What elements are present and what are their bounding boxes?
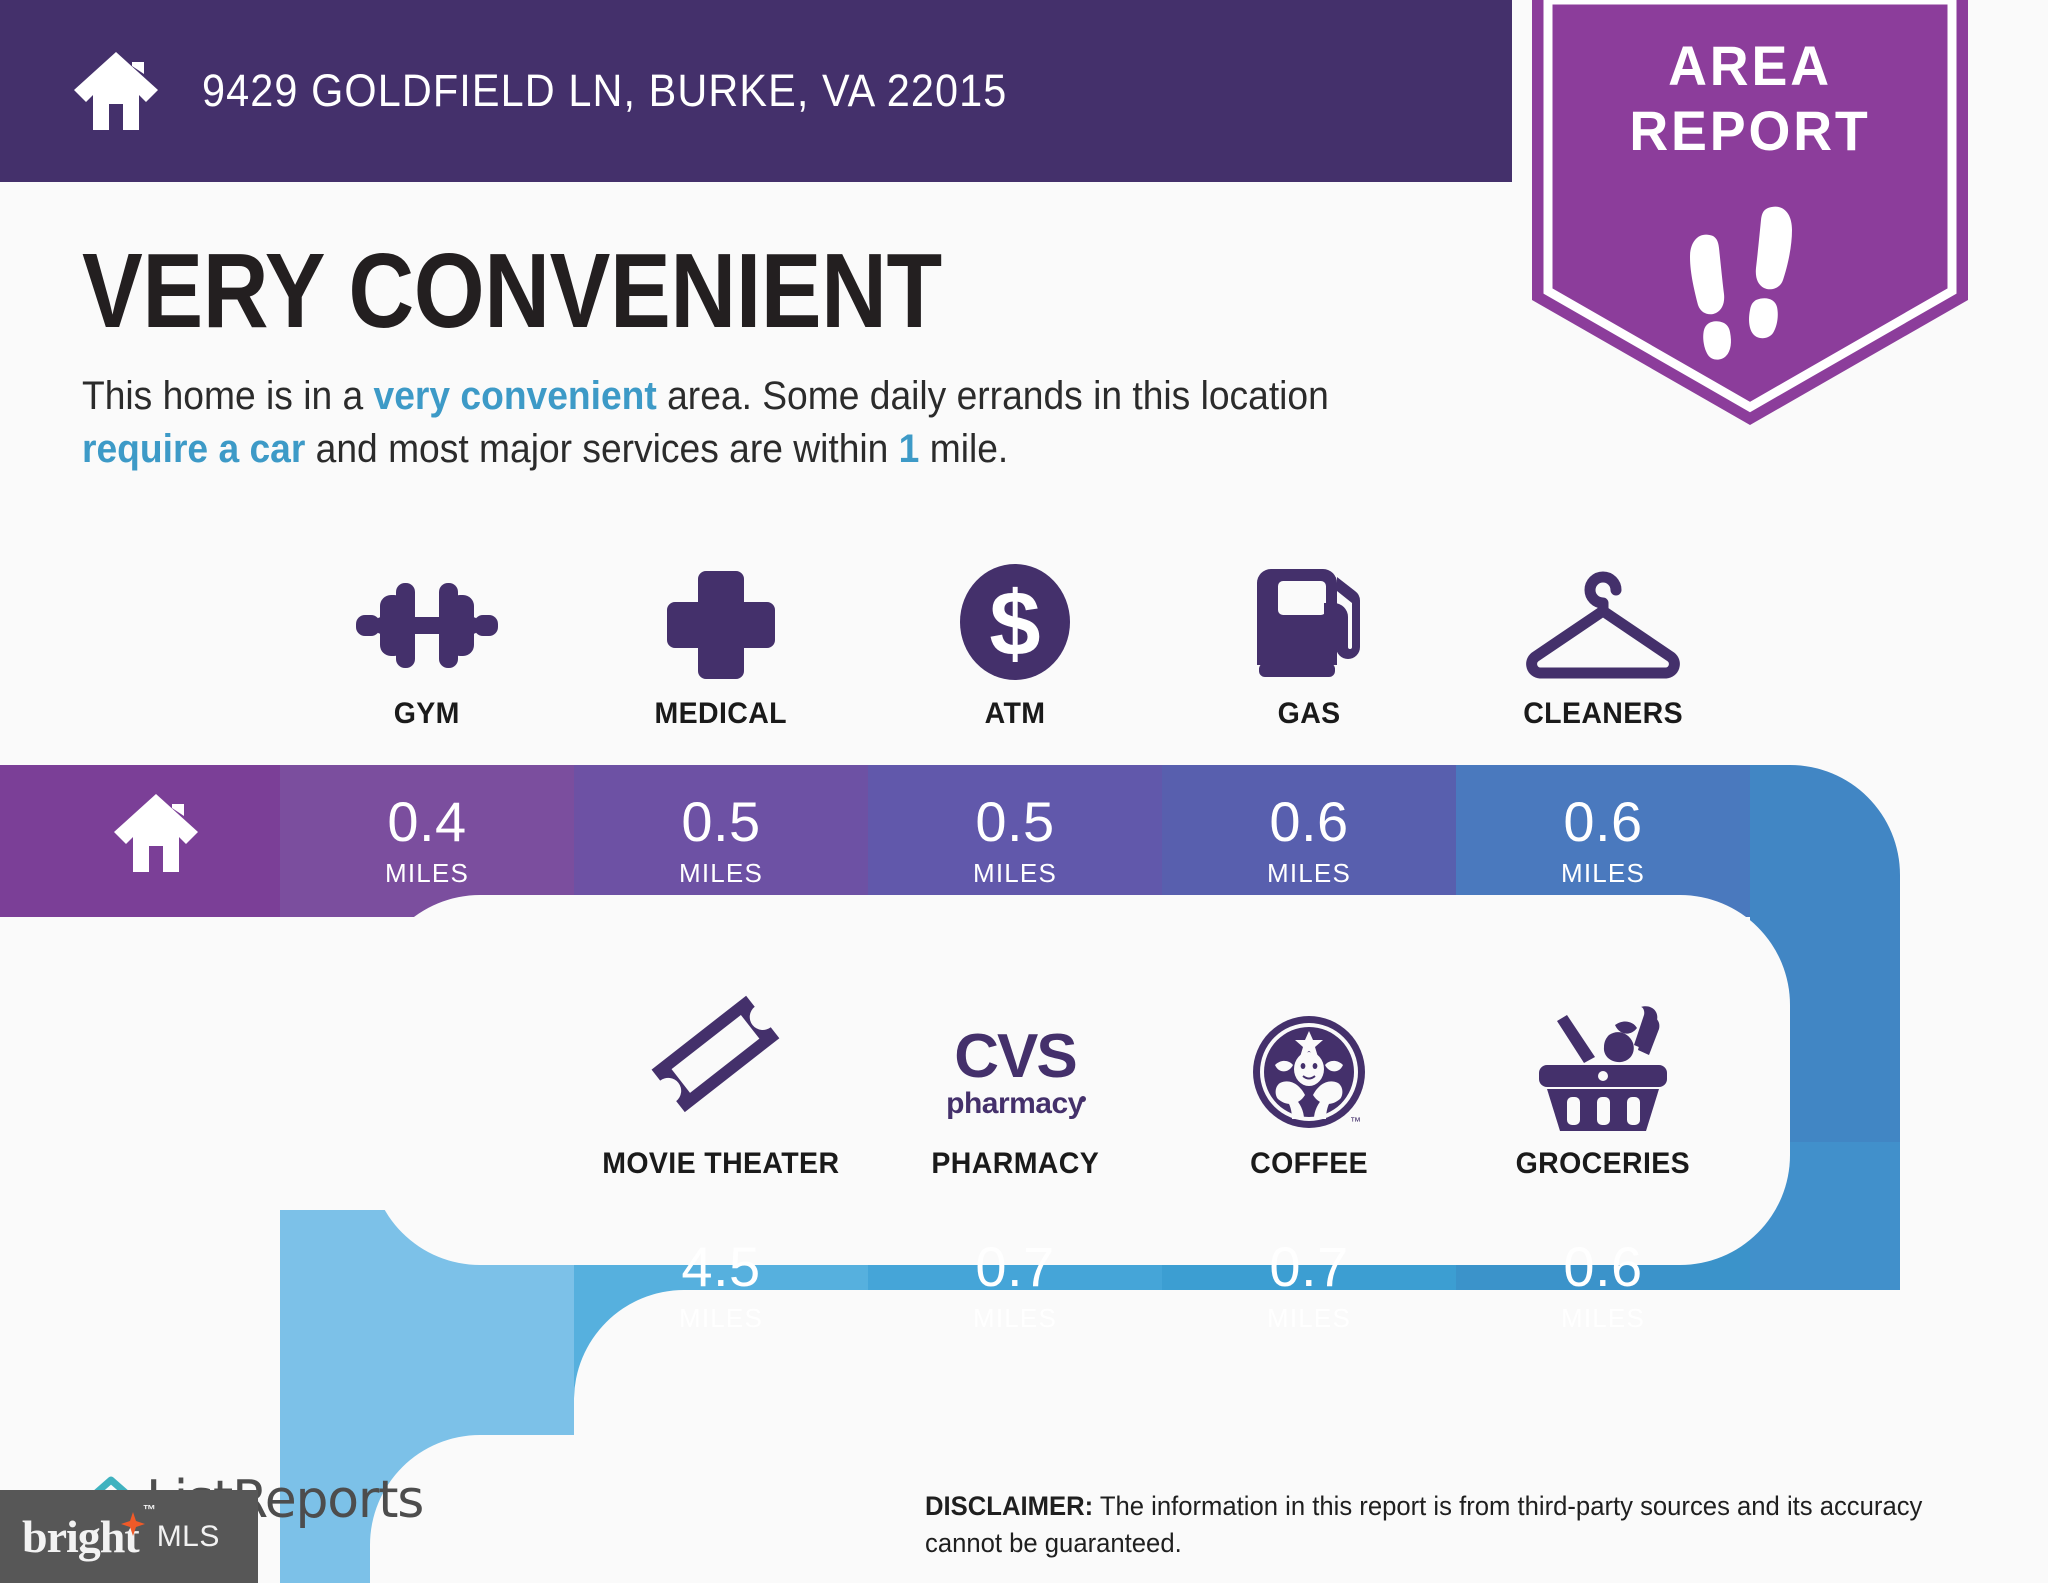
summary-highlight-3: 1 bbox=[899, 427, 920, 471]
cvs-pharmacy-logo: CVS pharmacy bbox=[931, 1019, 1099, 1131]
page-title: VERY CONVENIENT bbox=[82, 238, 942, 344]
summary-text-3: and most major services are within bbox=[305, 427, 898, 471]
icon-wrap bbox=[1247, 555, 1371, 681]
distance-value: 0.5 bbox=[681, 794, 760, 850]
summary-highlight-2: require a car bbox=[82, 427, 305, 471]
amenity-icon-row-1: GYM MEDICAL $ ATM bbox=[280, 555, 1750, 731]
icon-wrap bbox=[651, 1005, 791, 1131]
icon-wrap bbox=[352, 555, 502, 681]
amenity-gas[interactable]: GAS bbox=[1162, 555, 1456, 731]
distance-unit: MILES bbox=[679, 1303, 763, 1334]
trademark-symbol: ™ bbox=[143, 1502, 155, 1517]
amenity-medical[interactable]: MEDICAL bbox=[574, 555, 868, 731]
summary-description: This home is in a very convenient area. … bbox=[82, 370, 1384, 476]
icon-wrap bbox=[1523, 555, 1683, 681]
distance-cell-groceries[interactable]: 0.6 MILES bbox=[1456, 1210, 1750, 1362]
amenity-cleaners[interactable]: CLEANERS bbox=[1456, 555, 1750, 731]
amenity-atm[interactable]: $ ATM bbox=[868, 555, 1162, 731]
amenity-icon-row-2: MOVIE THEATER CVS pharmacy PHARMACY bbox=[574, 1005, 1750, 1181]
icon-wrap: CVS pharmacy bbox=[931, 1005, 1099, 1131]
icon-wrap bbox=[1537, 1005, 1669, 1131]
header-bar: 9429 GOLDFIELD LN, BURKE, VA 22015 bbox=[0, 0, 1512, 182]
summary-text-4: mile. bbox=[919, 427, 1008, 471]
amenity-label: MOVIE THEATER bbox=[602, 1147, 839, 1181]
svg-text:$: $ bbox=[989, 573, 1040, 675]
bright-mls-badge: bright ™ MLS bbox=[0, 1490, 258, 1583]
distance-value: 0.7 bbox=[1269, 1239, 1348, 1295]
bright-wordmark: bright ™ bbox=[22, 1510, 139, 1563]
ticket-icon bbox=[651, 991, 791, 1131]
property-address: 9429 GOLDFIELD LN, BURKE, VA 22015 bbox=[202, 65, 1007, 117]
distance-value: 0.6 bbox=[1563, 794, 1642, 850]
amenity-label: GROCERIES bbox=[1516, 1147, 1690, 1181]
starbucks-logo: ™ bbox=[1250, 1013, 1368, 1131]
distance-cell-movie-theater[interactable]: 4.5 MILES bbox=[574, 1210, 868, 1362]
area-report-page: 9429 GOLDFIELD LN, BURKE, VA 22015 AREA … bbox=[0, 0, 2048, 1583]
summary-text-2: area. Some daily errands in this locatio… bbox=[657, 374, 1329, 418]
area-report-badge: AREA REPORT bbox=[1500, 0, 2000, 425]
amenity-pharmacy[interactable]: CVS pharmacy PHARMACY bbox=[868, 1005, 1162, 1181]
distance-cell-gym[interactable]: 0.4 MILES bbox=[280, 765, 574, 917]
distance-unit: MILES bbox=[1267, 1303, 1351, 1334]
amenity-gym[interactable]: GYM bbox=[280, 555, 574, 731]
distance-unit: MILES bbox=[973, 1303, 1057, 1334]
badge-ribbon-shape bbox=[1500, 0, 2000, 425]
amenity-label: GYM bbox=[394, 697, 460, 731]
distance-unit: MILES bbox=[1561, 858, 1645, 889]
svg-text:pharmacy: pharmacy bbox=[946, 1087, 1085, 1120]
dollar-circle-icon: $ bbox=[959, 563, 1071, 681]
icon-wrap bbox=[665, 555, 777, 681]
icon-wrap: ™ bbox=[1250, 1005, 1368, 1131]
disclaimer: DISCLAIMER: The information in this repo… bbox=[925, 1488, 1961, 1563]
distance-value: 0.6 bbox=[1269, 794, 1348, 850]
distance-cell-medical[interactable]: 0.5 MILES bbox=[574, 765, 868, 917]
distance-value: 0.5 bbox=[975, 794, 1054, 850]
amenity-label: PHARMACY bbox=[931, 1147, 1099, 1181]
distance-value: 0.6 bbox=[1563, 1239, 1642, 1295]
amenity-movie-theater[interactable]: MOVIE THEATER bbox=[574, 1005, 868, 1181]
distance-cell-cleaners[interactable]: 0.6 MILES bbox=[1456, 765, 1750, 917]
amenity-label: GAS bbox=[1278, 697, 1341, 731]
amenity-groceries[interactable]: GROCERIES bbox=[1456, 1005, 1750, 1181]
distance-cell-atm[interactable]: 0.5 MILES bbox=[868, 765, 1162, 917]
grocery-basket-icon bbox=[1537, 1005, 1669, 1131]
star-icon bbox=[121, 1512, 145, 1536]
distance-cell-gas[interactable]: 0.6 MILES bbox=[1162, 765, 1456, 917]
medical-cross-icon bbox=[665, 569, 777, 681]
summary-text-1: This home is in a bbox=[82, 374, 374, 418]
amenity-label: MEDICAL bbox=[655, 697, 787, 731]
svg-text:™: ™ bbox=[1350, 1116, 1361, 1128]
distance-cell-coffee[interactable]: 0.7 MILES bbox=[1162, 1210, 1456, 1362]
distance-cell-pharmacy[interactable]: 0.7 MILES bbox=[868, 1210, 1162, 1362]
distance-unit: MILES bbox=[1561, 1303, 1645, 1334]
svg-text:CVS: CVS bbox=[954, 1022, 1075, 1091]
amenity-label: CLEANERS bbox=[1523, 697, 1683, 731]
distance-unit: MILES bbox=[679, 858, 763, 889]
distance-unit: MILES bbox=[385, 858, 469, 889]
amenity-label: ATM bbox=[985, 697, 1046, 731]
mls-text: MLS bbox=[157, 1520, 220, 1554]
icon-wrap: $ bbox=[959, 555, 1071, 681]
distance-value: 4.5 bbox=[681, 1239, 760, 1295]
distance-unit: MILES bbox=[973, 858, 1057, 889]
distance-value: 0.4 bbox=[387, 794, 466, 850]
distance-unit: MILES bbox=[1267, 858, 1351, 889]
home-icon bbox=[70, 48, 162, 134]
amenity-coffee[interactable]: ™ COFFEE bbox=[1162, 1005, 1456, 1181]
distance-value: 0.7 bbox=[975, 1239, 1054, 1295]
summary-highlight-1: very convenient bbox=[374, 374, 657, 418]
hanger-icon bbox=[1523, 571, 1683, 681]
gas-pump-icon bbox=[1247, 563, 1371, 681]
disclaimer-label: DISCLAIMER: bbox=[925, 1491, 1093, 1521]
amenity-label: COFFEE bbox=[1250, 1147, 1368, 1181]
dumbbell-icon bbox=[352, 569, 502, 681]
home-icon bbox=[110, 790, 202, 876]
